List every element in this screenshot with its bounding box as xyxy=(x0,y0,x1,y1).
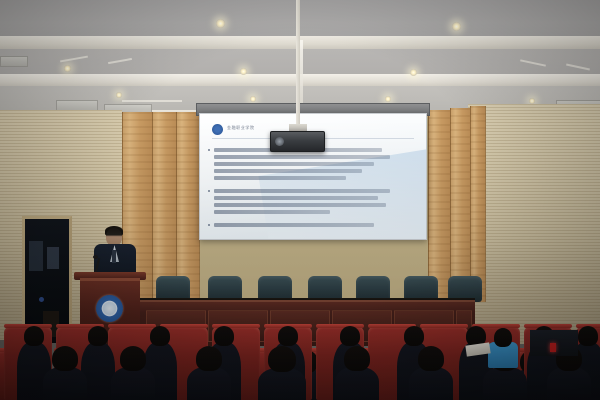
seat-headrest-1-8 xyxy=(420,324,468,328)
audience-person-shoulders-2-1 xyxy=(111,367,155,400)
seat-headrest-1-6 xyxy=(316,324,364,328)
audience-person-head-1-4 xyxy=(278,326,298,346)
slide-bullet-marker-0 xyxy=(208,149,210,151)
slide-text-line-2-0 xyxy=(214,223,374,227)
audience-person-shoulders-2-0 xyxy=(43,367,87,400)
ceiling-downlight-7 xyxy=(385,96,391,102)
ceiling-downlight-0 xyxy=(216,19,225,28)
doorway-object-b xyxy=(47,247,59,269)
wood-panel-5 xyxy=(470,106,486,302)
slide-text-line-0-2 xyxy=(214,162,374,166)
ceiling-downlight-5 xyxy=(116,92,122,98)
audience-person-shoulders-2-4 xyxy=(335,367,379,400)
wood-panel-3 xyxy=(428,110,452,302)
slide-bullet-2 xyxy=(214,223,414,230)
audience-person-shoulders-2-7 xyxy=(547,367,591,400)
wood-panel-2 xyxy=(176,112,200,302)
wood-panel-4 xyxy=(450,108,472,302)
slide-text-line-1-2 xyxy=(214,203,386,207)
audience-person-shoulders-2-3 xyxy=(258,368,306,400)
audience-person-head-1-2 xyxy=(150,326,170,346)
lecture-hall-photo: 金融职业学院 xyxy=(0,0,600,400)
ceiling-downlight-2 xyxy=(64,65,71,72)
ceiling-downlight-6 xyxy=(250,96,256,102)
slide-logo-text: 金融职业学院 xyxy=(227,125,255,131)
audience-person-head-2-0 xyxy=(52,346,78,371)
right-acoustic-wall xyxy=(468,104,600,344)
ceiling-downlight-3 xyxy=(240,68,247,75)
podium-microphone-head xyxy=(93,255,98,259)
slide-text-line-0-4 xyxy=(214,176,346,180)
projector-lens-icon xyxy=(275,137,284,146)
slide-text-line-0-3 xyxy=(214,169,362,173)
audience-person-head-1-0 xyxy=(24,326,44,346)
slide-bullet-marker-2 xyxy=(208,224,210,226)
wood-panel-1 xyxy=(152,112,178,302)
ceiling-conduit-a xyxy=(122,100,182,102)
equipment-led-icon xyxy=(550,343,556,352)
slide-bullet-marker-1 xyxy=(208,190,210,192)
ceiling-downlight-4 xyxy=(410,69,417,76)
audience-person-shoulders-2-2 xyxy=(187,367,231,400)
audience-person-shoulders-2-6 xyxy=(483,367,527,400)
slide-bullet-0 xyxy=(214,148,414,183)
slide-text-line-0-1 xyxy=(214,155,390,159)
ceiling-projector xyxy=(270,131,325,152)
slide-logo-icon xyxy=(212,124,223,135)
audience-person-head-2-2 xyxy=(196,346,222,371)
audience-person-head-1-9 xyxy=(578,326,598,346)
slide-text-line-1-0 xyxy=(214,189,390,193)
doorway-object-a xyxy=(29,241,43,271)
projector-mount-pole xyxy=(296,0,300,130)
seat-headrest-1-2 xyxy=(108,324,156,328)
audience-person-head-1-6 xyxy=(404,326,424,346)
slide-text-line-1-1 xyxy=(214,196,378,200)
audience-person-head-2-4 xyxy=(344,346,370,371)
audience-person-head-1-5 xyxy=(340,326,360,346)
institution-crest-icon xyxy=(96,295,123,322)
doorway-light xyxy=(39,297,44,302)
audience-person-head-2-3 xyxy=(268,346,296,372)
slide-text-line-1-3 xyxy=(214,210,330,214)
ceiling-air-vent-0 xyxy=(0,56,28,67)
ceiling-upper-plane xyxy=(0,0,600,38)
audience-person-shoulders-2-5 xyxy=(409,367,453,400)
audience-person-head-1-1 xyxy=(88,326,108,346)
audience-person-head-1-3 xyxy=(214,326,234,346)
slide-bullet-1 xyxy=(214,189,414,217)
presenter-tie xyxy=(112,250,116,263)
note-taker-head xyxy=(494,328,512,347)
audience-person-head-2-5 xyxy=(418,346,444,371)
audience-person-head-2-1 xyxy=(120,346,146,371)
ceiling-downlight-1 xyxy=(452,22,461,31)
seat-headrest-1-3 xyxy=(160,324,208,328)
